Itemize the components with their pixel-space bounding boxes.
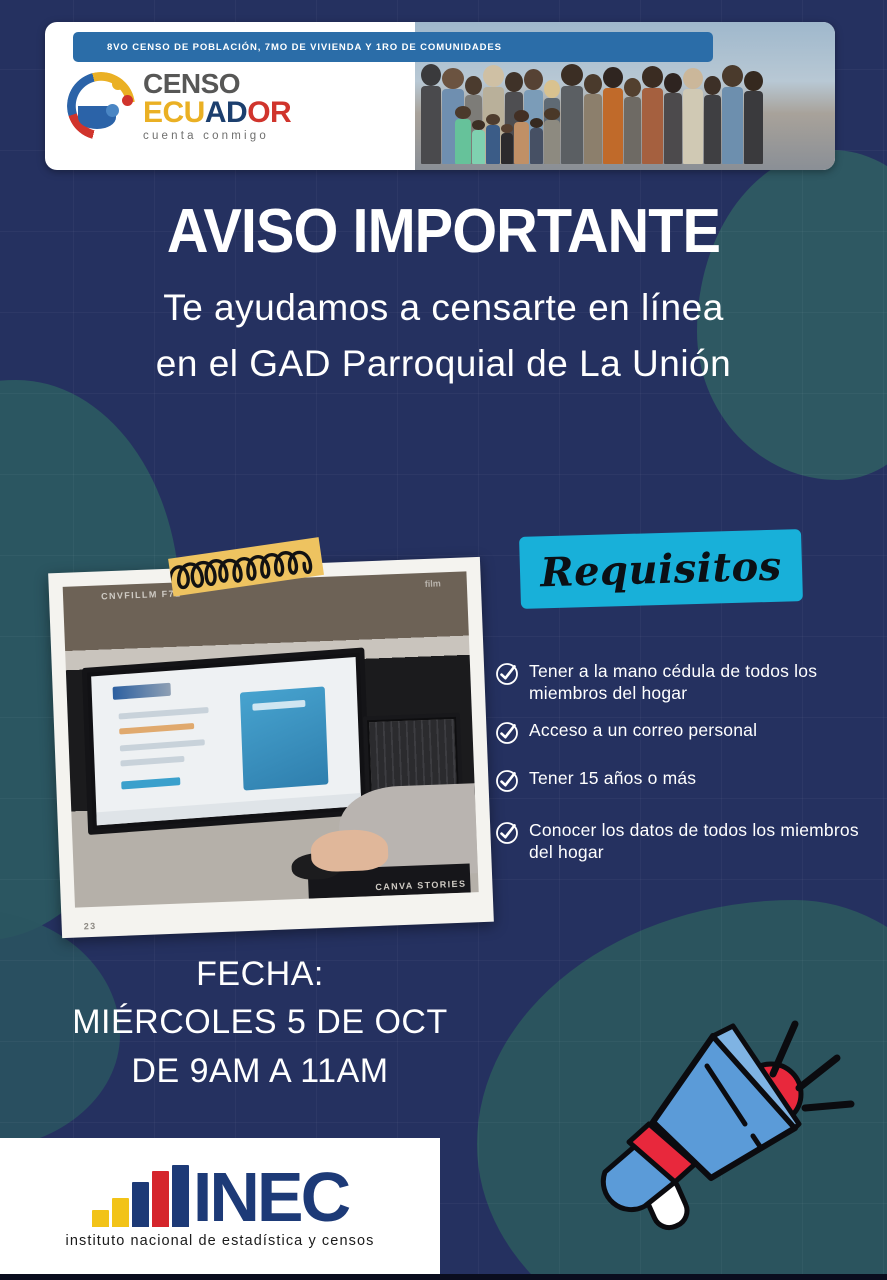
logo-ad: AD	[205, 96, 247, 129]
polaroid-photo-card: CNVFILLM F71 film CANVA STORIES 23	[48, 557, 494, 938]
subtitle-line-1: Te ayudamos a censarte en línea	[0, 287, 887, 329]
list-item: Acceso a un correo personal	[495, 719, 880, 745]
date-block: FECHA: MIÉRCOLES 5 DE OCT DE 9AM A 11AM	[60, 950, 460, 1095]
list-item: Conocer los datos de todos los miembros …	[495, 819, 880, 864]
circled-check-icon	[495, 769, 519, 793]
fecha-label: FECHA:	[60, 950, 460, 998]
circled-check-icon	[495, 662, 519, 686]
censo-ecuador-logo: CENSO ECUADOR cuenta conmigo	[67, 70, 291, 143]
censo-header-banner: 8VO CENSO DE POBLACIÓN, 7MO DE VIVIENDA …	[45, 22, 835, 170]
megaphone-icon	[583, 996, 873, 1246]
computer-monitor	[82, 647, 371, 835]
inec-tagline: instituto nacional de estadística y cens…	[66, 1233, 375, 1249]
fecha-date: MIÉRCOLES 5 DE OCT	[60, 998, 460, 1046]
requisitos-badge-label: Requisitos	[540, 542, 783, 596]
list-item: Tener a la mano cédula de todos los miem…	[495, 660, 880, 705]
inec-acronym: INEC	[193, 1169, 348, 1226]
person-using-computer-photo	[63, 571, 479, 907]
list-item-label: Conocer los datos de todos los miembros …	[529, 819, 880, 864]
list-item: Tener 15 años o más	[495, 767, 880, 793]
bottom-strip	[0, 1274, 887, 1280]
logo-or: OR	[247, 96, 291, 129]
logo-line-ecuador: ECUADOR	[143, 98, 291, 128]
page-title: AVISO IMPORTANTE	[31, 196, 856, 267]
hand	[311, 828, 389, 873]
photo-mark-top-right: film	[425, 578, 441, 589]
logo-ecu: ECU	[143, 96, 205, 129]
circled-check-icon	[495, 821, 519, 845]
censo-circular-mark-icon	[67, 72, 135, 140]
banner-ribbon: 8VO CENSO DE POBLACIÓN, 7MO DE VIVIENDA …	[73, 32, 713, 62]
requisitos-badge: Requisitos	[519, 529, 803, 609]
list-item-label: Tener 15 años o más	[529, 767, 696, 789]
requirements-list: Tener a la mano cédula de todos los miem…	[495, 660, 880, 878]
logo-line-censo: CENSO	[143, 70, 291, 98]
fecha-time: DE 9AM A 11AM	[60, 1047, 460, 1095]
photo-mark-bottom-left: 23	[84, 921, 97, 931]
list-item-label: Tener a la mano cédula de todos los miem…	[529, 660, 880, 705]
monitor-screen	[91, 657, 361, 825]
poster-canvas: 8VO CENSO DE POBLACIÓN, 7MO DE VIVIENDA …	[0, 0, 887, 1280]
circled-check-icon	[495, 721, 519, 745]
bar-chart-icon	[92, 1165, 189, 1227]
logo-tagline: cuenta conmigo	[143, 131, 291, 143]
inec-logo-footer: INEC instituto nacional de estadística y…	[0, 1138, 440, 1275]
headline-block: AVISO IMPORTANTE Te ayudamos a censarte …	[0, 196, 887, 385]
banner-ribbon-text: 8VO CENSO DE POBLACIÓN, 7MO DE VIVIENDA …	[107, 42, 502, 53]
subtitle-line-2: en el GAD Parroquial de La Unión	[0, 343, 887, 385]
list-item-label: Acceso a un correo personal	[529, 719, 757, 741]
